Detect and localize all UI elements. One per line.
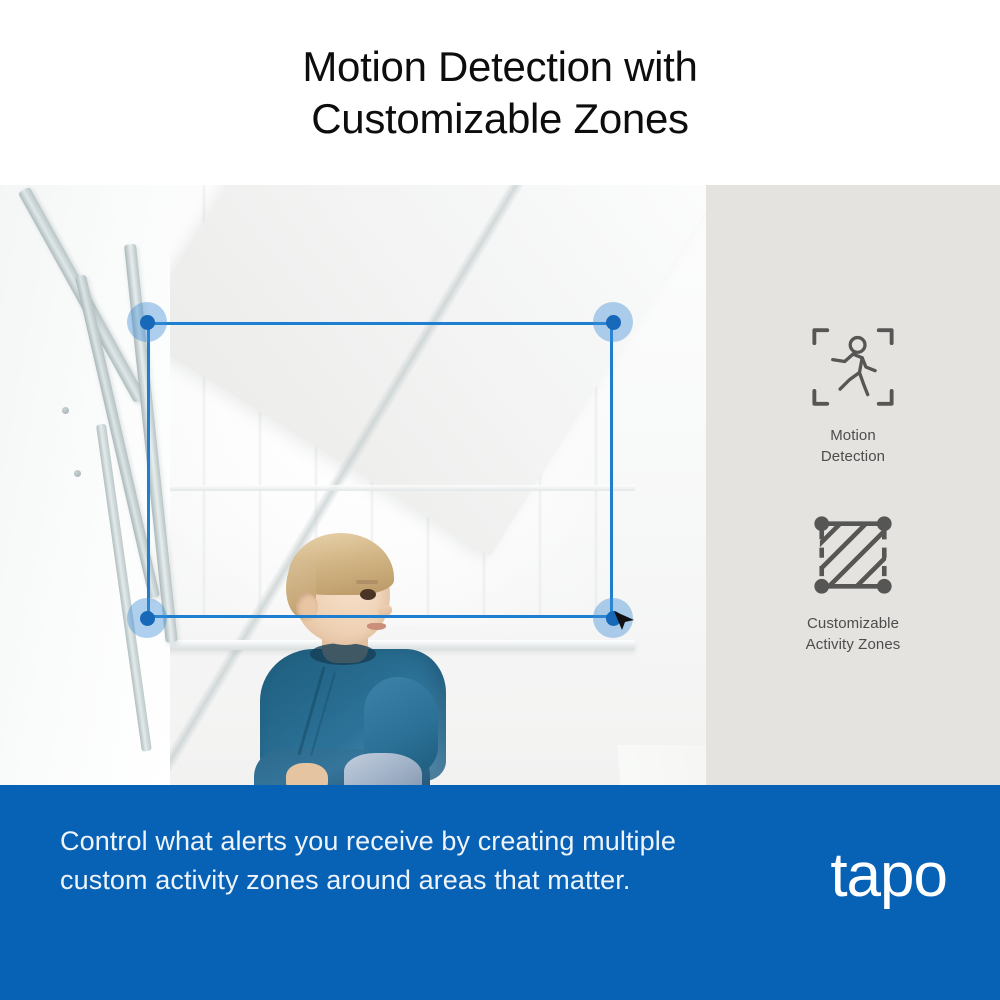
child-foot — [344, 753, 422, 785]
tapo-logo: tapo — [830, 845, 947, 907]
zone-handle-top-right[interactable] — [593, 302, 633, 342]
motion-detection-icon — [807, 321, 899, 413]
feature-motion-detection-label: Motion Detection — [821, 425, 885, 467]
page-header: Motion Detection with Customizable Zones — [0, 0, 1000, 185]
feature-customizable-zones: Customizable Activity Zones — [806, 509, 901, 655]
child-hand — [286, 763, 328, 785]
child-collar — [310, 643, 376, 665]
marketing-banner: Motion Detection with Customizable Zones — [0, 0, 1000, 1000]
wall-fixing-screw — [74, 470, 81, 477]
feature-motion-detection: Motion Detection — [807, 321, 899, 467]
feature-label-line-2: Detection — [821, 448, 885, 465]
page-title-line-1: Motion Detection with — [302, 41, 697, 93]
feature-label-line-2: Activity Zones — [806, 636, 901, 653]
feature-label-line-1: Customizable — [807, 615, 899, 632]
zone-handle-bottom-left[interactable] — [127, 598, 167, 638]
feature-stage: Motion Detection — [0, 185, 1000, 785]
footer-banner: Control what alerts you receive by creat… — [0, 785, 1000, 1000]
footer-caption: Control what alerts you receive by creat… — [60, 822, 680, 900]
page-title-line-2: Customizable Zones — [311, 93, 688, 145]
activity-zone-rectangle[interactable] — [147, 322, 613, 618]
zone-handle-top-left[interactable] — [127, 302, 167, 342]
customizable-activity-zones-icon — [807, 509, 899, 601]
feature-list: Motion Detection — [706, 185, 1000, 785]
feature-label-line-1: Motion — [830, 427, 876, 444]
child-mouth — [367, 623, 386, 630]
lower-right-wall — [617, 745, 706, 785]
feature-customizable-zones-label: Customizable Activity Zones — [806, 613, 901, 655]
drag-cursor-icon — [612, 609, 640, 635]
wall-fixing-screw — [62, 407, 69, 414]
